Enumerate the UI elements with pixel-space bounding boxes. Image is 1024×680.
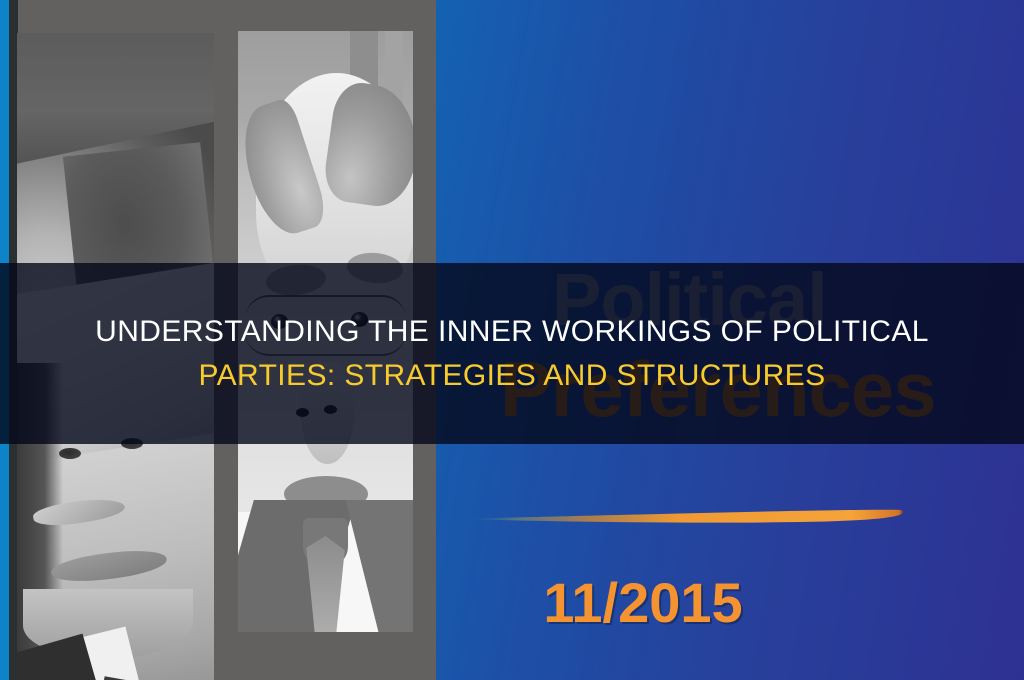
slide-title: UNDERSTANDING THE INNER WORKINGS OF POLI… [0,263,1024,444]
presentation-slide: Political Preferences [0,0,1024,680]
swoosh-decoration-icon [472,506,904,528]
title-line-1: UNDERSTANDING THE INNER WORKINGS OF POLI… [95,310,929,354]
slide-date-text: 11/2015 [543,570,742,635]
slide-date: 11/2015 [0,570,1024,635]
title-line-2: PARTIES: STRATEGIES AND STRUCTURES [198,354,825,398]
